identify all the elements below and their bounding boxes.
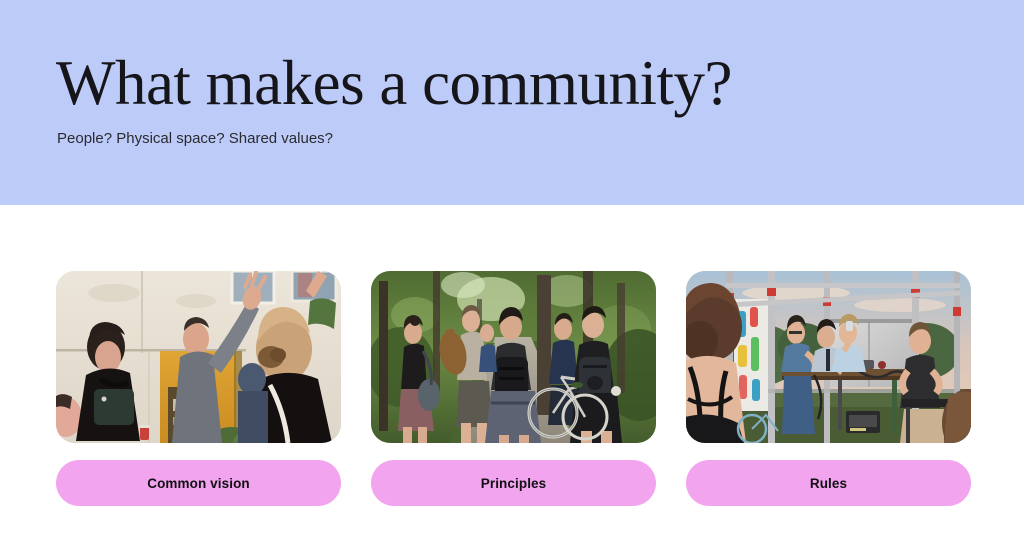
card-rules: Rules (686, 271, 971, 506)
card-image-common-vision[interactable] (56, 271, 341, 443)
card-image-principles[interactable] (371, 271, 656, 443)
card-common-vision: Common vision (56, 271, 341, 506)
page-subtitle: People? Physical space? Shared values? (57, 128, 333, 149)
card-grid: Common vision (56, 271, 970, 506)
card-image-rules[interactable] (686, 271, 971, 443)
card-button-principles[interactable]: Principles (371, 460, 656, 506)
page-title: What makes a community? (56, 52, 732, 115)
card-button-rules[interactable]: Rules (686, 460, 971, 506)
page-root: What makes a community? People? Physical… (0, 0, 1024, 545)
card-principles: Principles (371, 271, 656, 506)
card-button-common-vision[interactable]: Common vision (56, 460, 341, 506)
hero-banner: What makes a community? People? Physical… (0, 0, 1024, 205)
